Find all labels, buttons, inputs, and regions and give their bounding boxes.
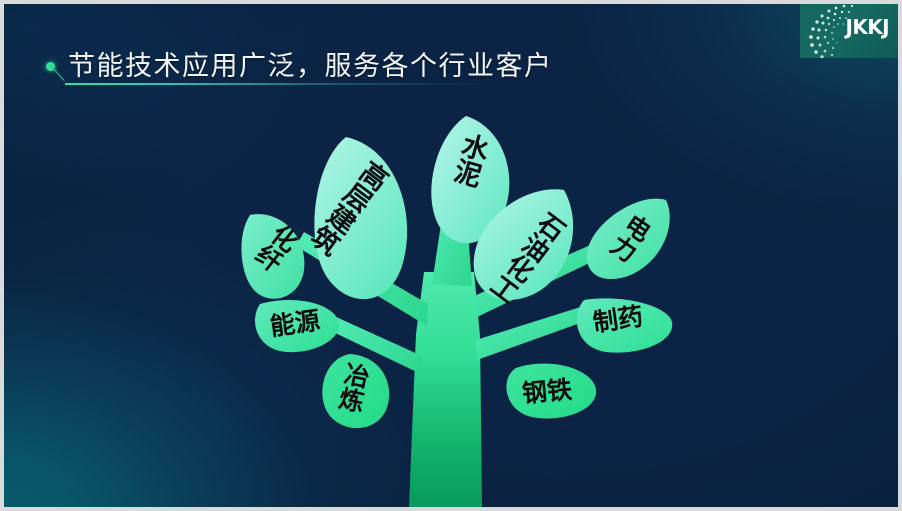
leaf-gaoceng bbox=[314, 137, 407, 299]
logo-wordmark: JKKJ bbox=[846, 17, 889, 37]
page-title: 节能技术应用广泛，服务各个行业客户 bbox=[68, 44, 553, 83]
presentation-slide: 化纤 高层建筑 水泥 石油化工 电力 能源 制药 冶炼 钢铁 节能技术应用广泛，… bbox=[0, 0, 902, 511]
leaf-dianli bbox=[587, 199, 670, 279]
tree-branch-right-lower bbox=[476, 304, 594, 360]
leaf-huaxian bbox=[241, 214, 304, 299]
company-logo[interactable]: JKKJ bbox=[800, 4, 898, 58]
leaf-zhiyao bbox=[577, 298, 672, 352]
title-underline bbox=[65, 83, 485, 85]
slide-canvas: 化纤 高层建筑 水泥 石油化工 电力 能源 制药 冶炼 钢铁 节能技术应用广泛，… bbox=[4, 4, 898, 507]
leaf-yelian bbox=[322, 354, 389, 428]
leaf-nengyuan bbox=[255, 300, 339, 352]
leaf-gangtie bbox=[506, 364, 596, 419]
